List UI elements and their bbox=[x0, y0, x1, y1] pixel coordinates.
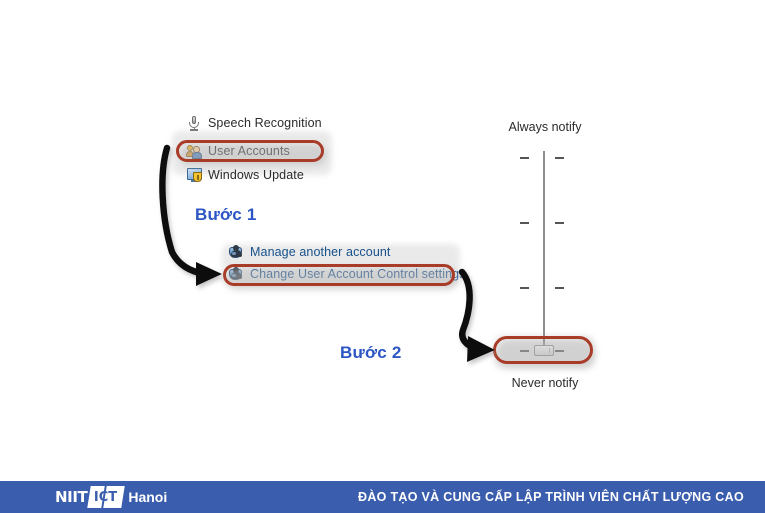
task-link-label: Manage another account bbox=[250, 244, 391, 260]
highlight-ellipse-change-uac bbox=[223, 264, 455, 286]
footer-bar: NIIT ICT Hanoi ĐÀO TẠO VÀ CUNG CẤP LẬP T… bbox=[0, 481, 765, 513]
footer-tagline: ĐÀO TẠO VÀ CUNG CẤP LẬP TRÌNH VIÊN CHẤT … bbox=[358, 490, 744, 504]
slider-label-never-notify: Never notify bbox=[470, 376, 620, 390]
slider-track[interactable] bbox=[543, 151, 545, 351]
slider-tick-left-3 bbox=[520, 287, 529, 289]
step-label-2: Bước 2 bbox=[340, 343, 402, 363]
slider-label-always-notify: Always notify bbox=[470, 120, 620, 134]
slider-tick-right-1 bbox=[555, 157, 564, 159]
slider-tick-right-2 bbox=[555, 222, 564, 224]
slider-tick-left-2 bbox=[520, 222, 529, 224]
logo-ict-text: ICT bbox=[95, 490, 118, 505]
slider-tick-right-3 bbox=[555, 287, 564, 289]
microphone-icon bbox=[186, 115, 202, 131]
slider-tick-left-1 bbox=[520, 157, 529, 159]
task-link-manage-another-account[interactable]: Manage another account bbox=[228, 244, 391, 260]
cp-item-windows-update[interactable]: Windows Update bbox=[186, 167, 304, 183]
step-label-1: Bước 1 bbox=[195, 205, 257, 225]
logo-niit-text: NIIT bbox=[55, 488, 87, 506]
logo-ict-box: ICT bbox=[88, 486, 125, 508]
highlight-ellipse-slider-thumb bbox=[493, 336, 593, 364]
cp-item-speech-recognition[interactable]: Speech Recognition bbox=[186, 115, 322, 131]
highlight-ellipse-user-accounts bbox=[176, 140, 324, 162]
logo-hanoi-text: Hanoi bbox=[128, 489, 167, 505]
niit-hanoi-logo: NIIT ICT Hanoi bbox=[55, 486, 167, 508]
screenshot-canvas: Speech Recognition User Accounts Windows… bbox=[0, 0, 765, 513]
cp-item-label: Windows Update bbox=[208, 167, 304, 183]
windows-update-icon bbox=[186, 167, 202, 183]
shield-user-icon bbox=[228, 244, 244, 260]
cp-item-label: Speech Recognition bbox=[208, 115, 322, 131]
